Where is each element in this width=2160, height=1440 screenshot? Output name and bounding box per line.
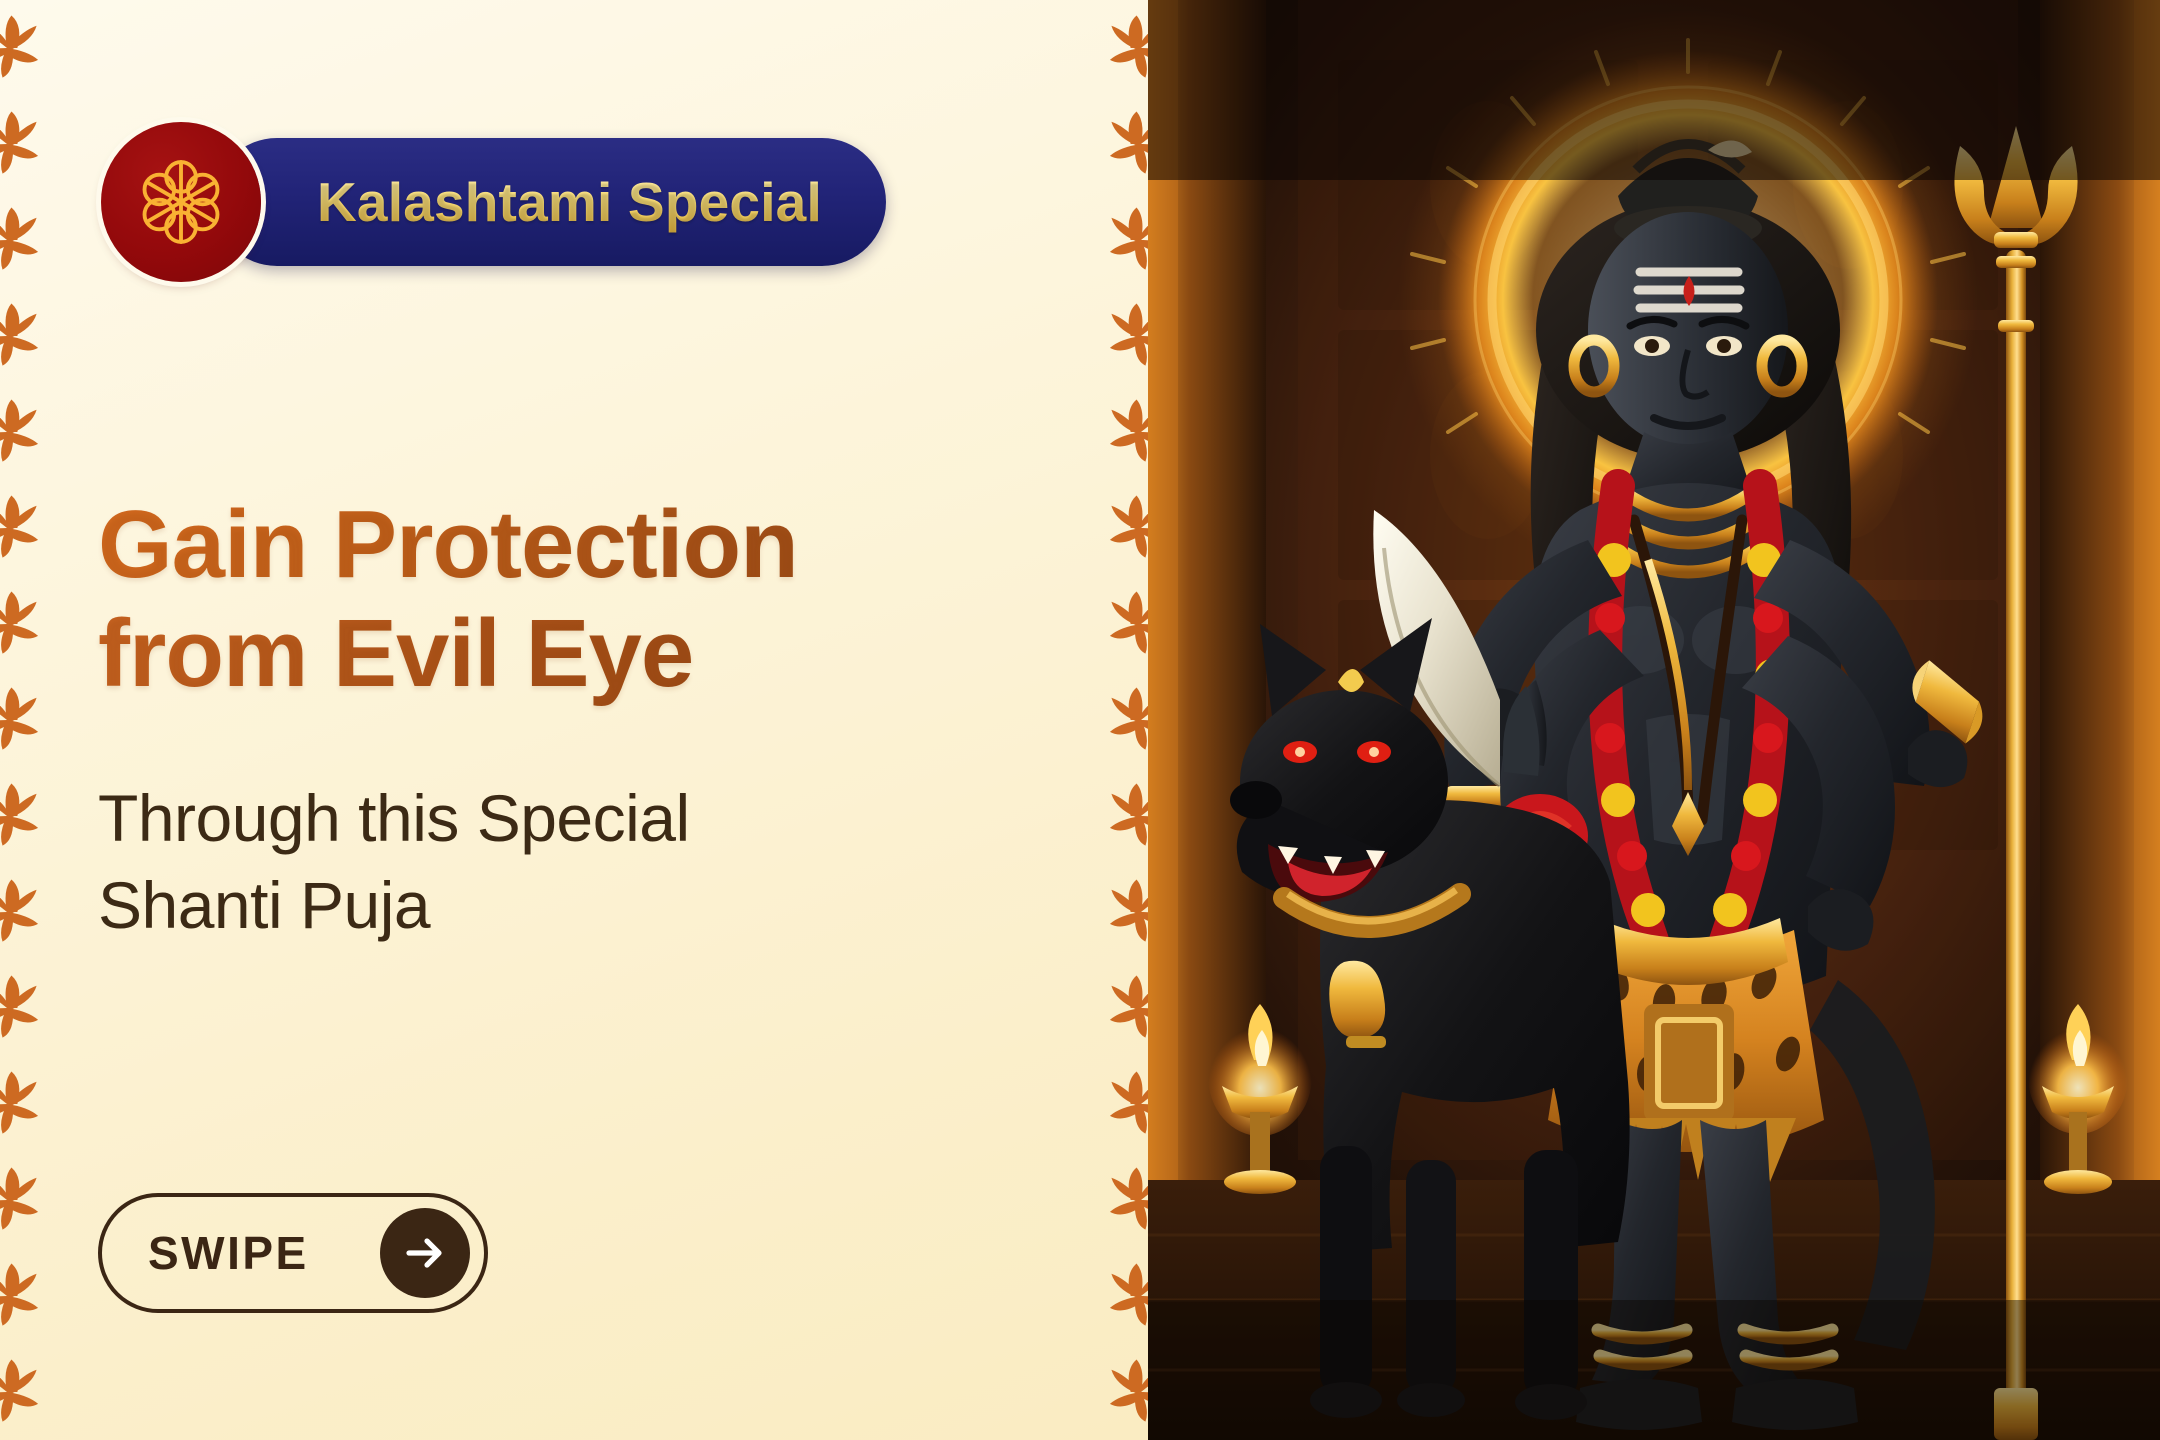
page-title: Gain Protection from Evil Eye [98, 490, 1048, 709]
leaf-burst-icon [1104, 107, 1148, 181]
leaf-burst-icon [0, 875, 44, 949]
leaf-burst-icon [1104, 971, 1148, 1045]
leaf-burst-icon [1104, 1067, 1148, 1141]
badge-label: Kalashtami Special [317, 170, 822, 234]
leaf-burst-icon [1104, 683, 1148, 757]
subheading: Through this Special Shanti Puja [98, 775, 1018, 949]
leaf-burst-icon [1104, 1163, 1148, 1237]
content-panel: Kalashtami Special Gain Protection from … [0, 0, 1148, 1440]
leaf-burst-icon [0, 1259, 44, 1333]
leaf-burst-icon [1104, 1355, 1148, 1429]
headline-line-1: Gain Protection [98, 490, 1048, 599]
left-decorative-border [0, 0, 58, 1440]
leaf-burst-icon [0, 11, 44, 85]
leaf-burst-icon [0, 107, 44, 181]
leaf-burst-icon [0, 779, 44, 853]
badge-pill: Kalashtami Special [213, 138, 886, 266]
leaf-burst-icon [0, 1163, 44, 1237]
leaf-burst-icon [0, 491, 44, 565]
headline-line-2: from Evil Eye [98, 599, 1048, 708]
leaf-burst-icon [0, 971, 44, 1045]
arrow-right-icon [380, 1208, 470, 1298]
poster-canvas: Kalashtami Special Gain Protection from … [0, 0, 2160, 1440]
leaf-burst-icon [0, 203, 44, 277]
leaf-burst-icon [1104, 875, 1148, 949]
kaal-bhairav-illustration [1148, 0, 2160, 1440]
leaf-burst-icon [1104, 395, 1148, 469]
leaf-burst-icon [0, 1067, 44, 1141]
subheading-line-1: Through this Special [98, 775, 1018, 862]
leaf-burst-icon [1104, 203, 1148, 277]
leaf-burst-icon [1104, 299, 1148, 373]
leaf-burst-icon [0, 683, 44, 757]
swipe-button[interactable]: SWIPE [98, 1193, 488, 1313]
lotus-mandala-icon [101, 122, 261, 282]
swipe-button-label: SWIPE [148, 1226, 309, 1280]
leaf-burst-icon [0, 395, 44, 469]
subheading-line-2: Shanti Puja [98, 862, 1018, 949]
leaf-burst-icon [1104, 11, 1148, 85]
special-badge[interactable]: Kalashtami Special [101, 122, 886, 282]
leaf-burst-icon [1104, 1259, 1148, 1333]
leaf-burst-icon [0, 299, 44, 373]
deity-artwork-panel [1148, 0, 2160, 1440]
leaf-burst-icon [0, 587, 44, 661]
leaf-burst-icon [1104, 491, 1148, 565]
leaf-burst-icon [1104, 779, 1148, 853]
leaf-burst-icon [0, 1355, 44, 1429]
right-decorative-border [1090, 0, 1148, 1440]
leaf-burst-icon [1104, 587, 1148, 661]
